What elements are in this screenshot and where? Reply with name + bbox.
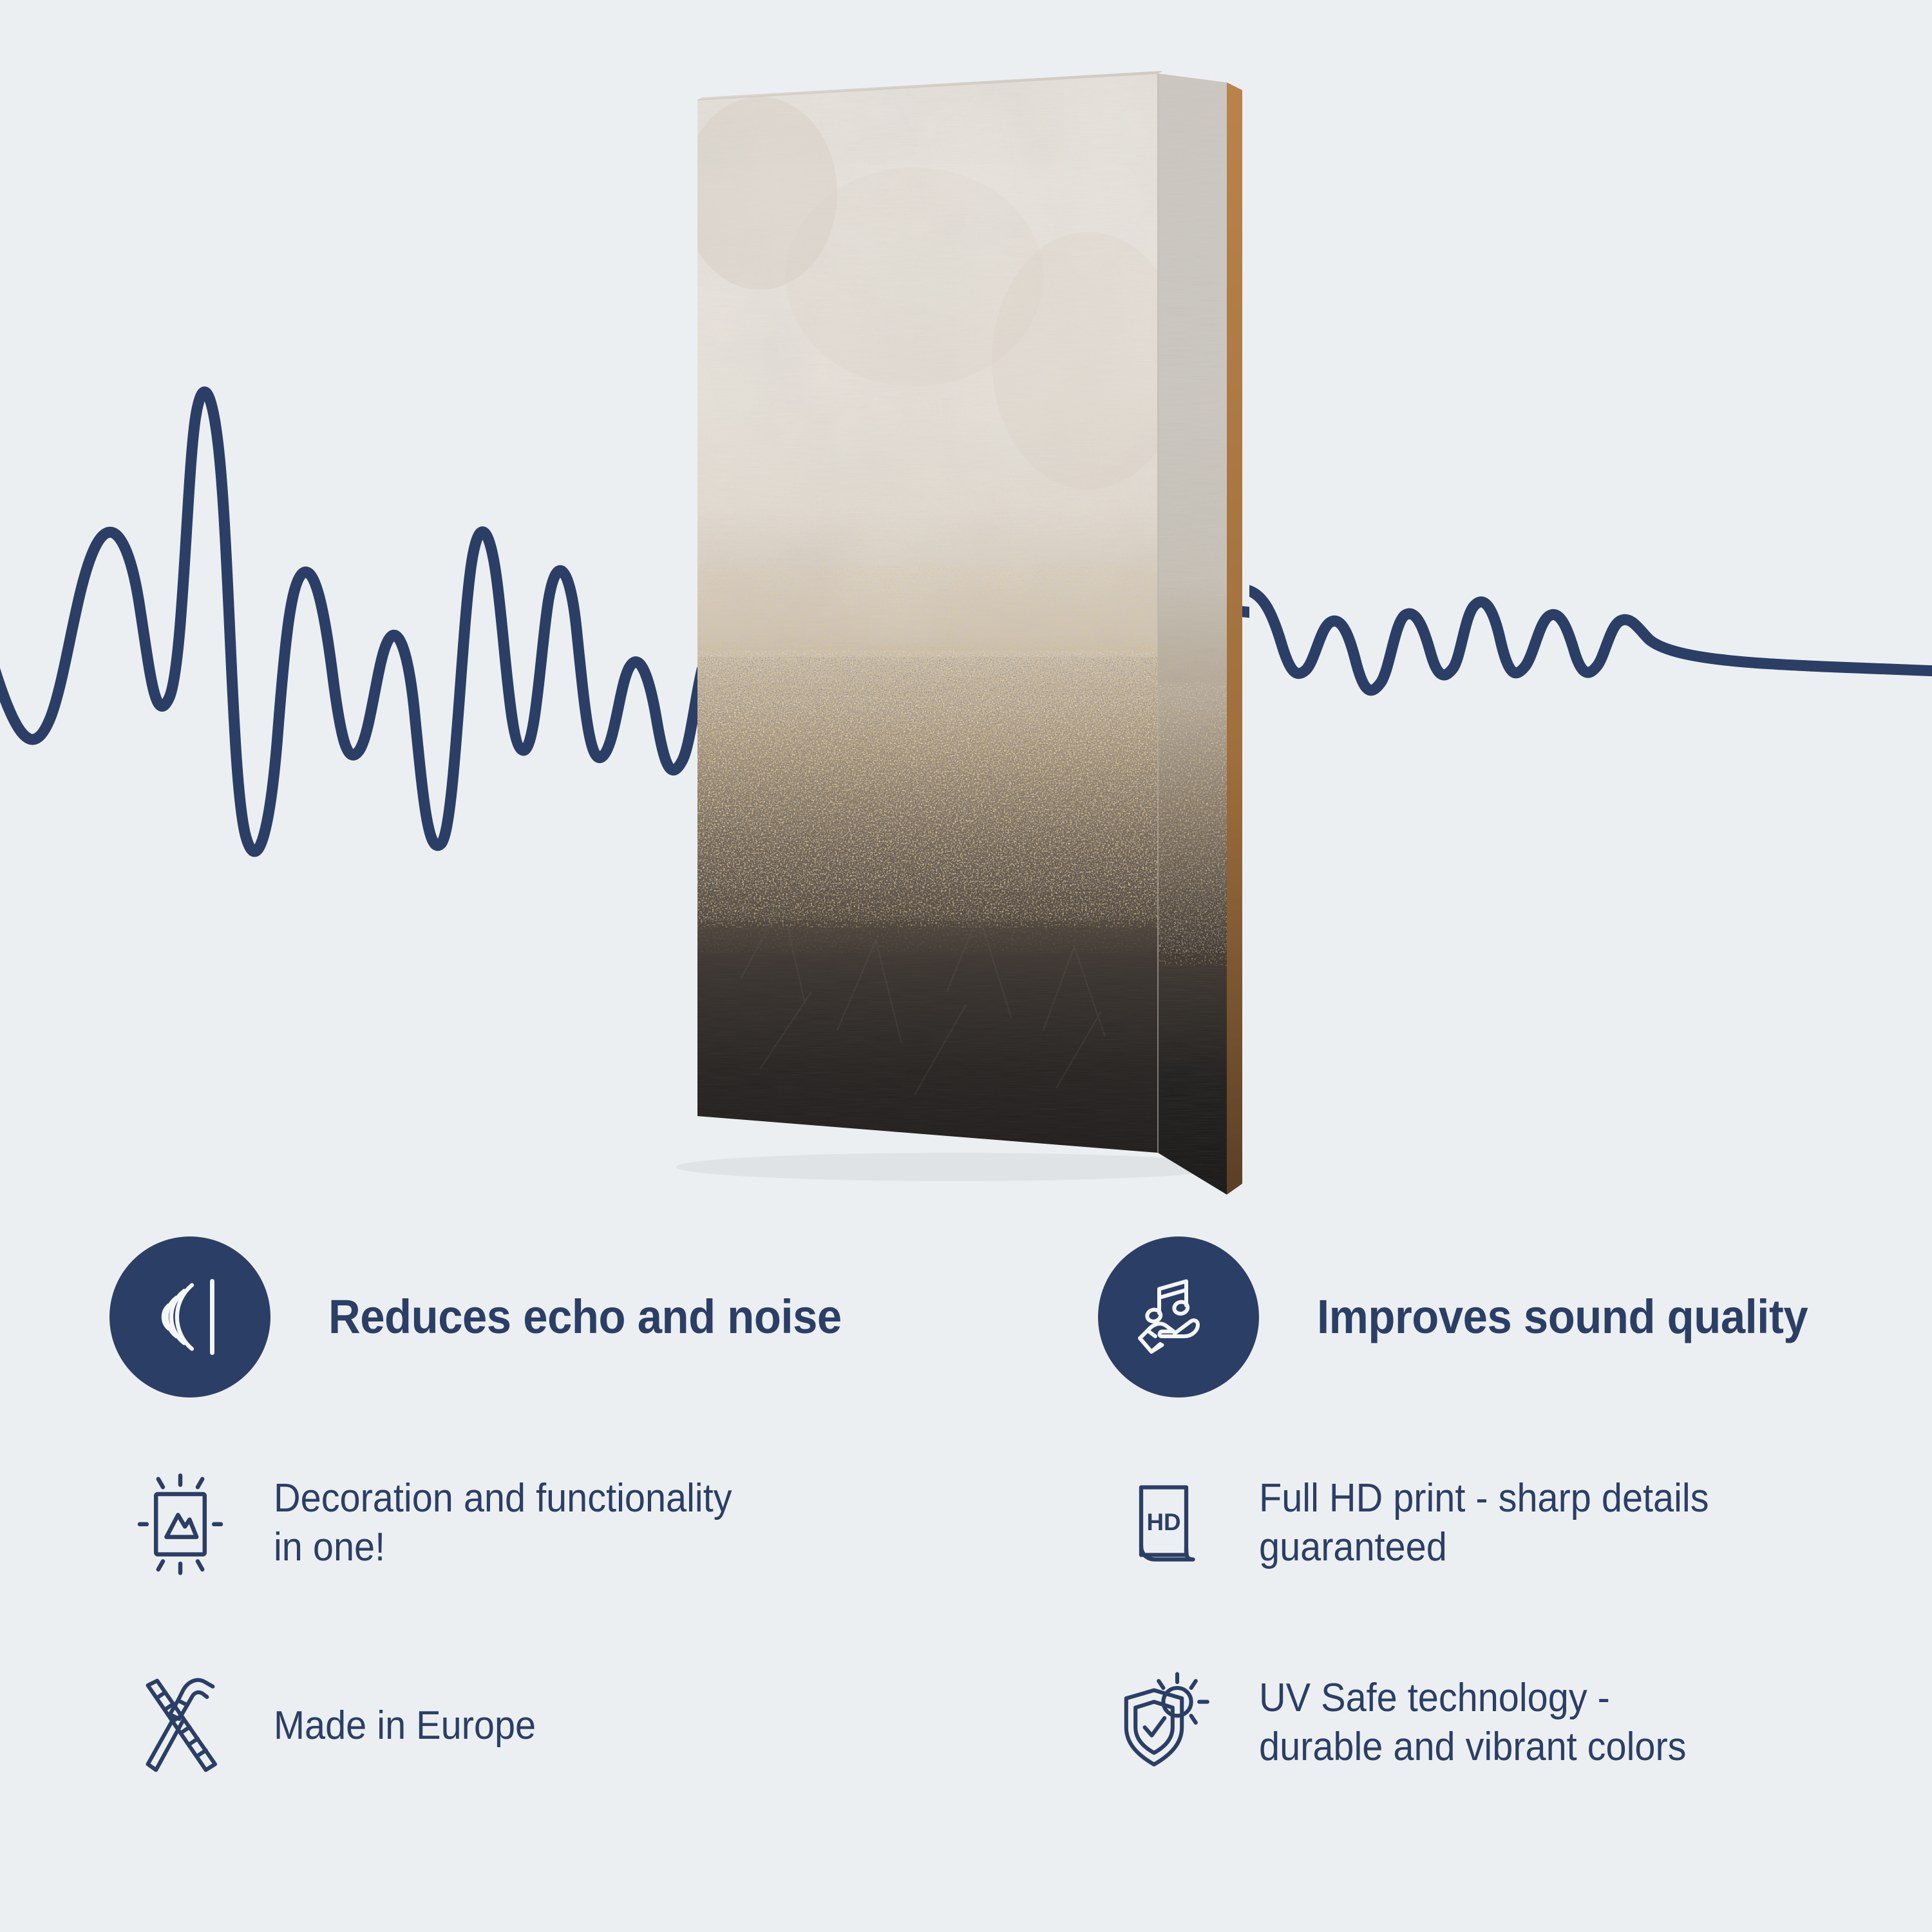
- hd-print-page-icon: HD: [1104, 1462, 1227, 1584]
- framed-picture-shine-icon: [119, 1462, 241, 1584]
- feature-line: UV Safe technology -: [1259, 1674, 1686, 1723]
- feature-line: Made in Europe: [274, 1701, 536, 1750]
- feature-line: in one!: [274, 1523, 732, 1572]
- badge-reduces-echo[interactable]: Reduces echo and noise: [109, 1236, 880, 1397]
- feature-line: durable and vibrant colors: [1259, 1723, 1686, 1772]
- feature-list: Reduces echo and noise: [0, 1224, 1932, 1932]
- badge-improves-sound[interactable]: Improves sound quality: [1098, 1236, 1845, 1397]
- badge-circle: [1098, 1236, 1259, 1397]
- feature-text: UV Safe technology - durable and vibrant…: [1259, 1674, 1686, 1771]
- feature-line: Decoration and functionality: [274, 1474, 732, 1523]
- sound-wave-absorb-icon: [142, 1269, 238, 1365]
- ruler-hammer-icon: [119, 1665, 241, 1787]
- feature-text: Decoration and functionality in one!: [274, 1474, 732, 1571]
- infographic-root: Reduces echo and noise: [0, 0, 1932, 1932]
- feature-line: Full HD print - sharp details: [1259, 1474, 1709, 1523]
- feature-uv-safe[interactable]: UV Safe technology - durable and vibrant…: [1104, 1662, 1718, 1784]
- music-note-in-hand-icon: [1130, 1269, 1227, 1365]
- hd-badge-text: HD: [1146, 1509, 1180, 1535]
- feature-decoration[interactable]: Decoration and functionality in one!: [119, 1462, 766, 1584]
- feature-text: Made in Europe: [274, 1701, 536, 1750]
- canvas-back-edge: [1227, 82, 1242, 1195]
- feature-line: guaranteed: [1259, 1523, 1709, 1572]
- feature-text: Full HD print - sharp details guaranteed: [1259, 1474, 1709, 1571]
- feature-made-in-europe[interactable]: Made in Europe: [119, 1665, 556, 1787]
- badge-label: Improves sound quality: [1317, 1292, 1808, 1342]
- badge-circle: [109, 1236, 270, 1397]
- badge-label: Reduces echo and noise: [328, 1292, 842, 1342]
- uv-shield-sun-icon: [1104, 1662, 1227, 1784]
- feature-hd-print[interactable]: HD Full HD print - sharp details guarant…: [1104, 1462, 1743, 1584]
